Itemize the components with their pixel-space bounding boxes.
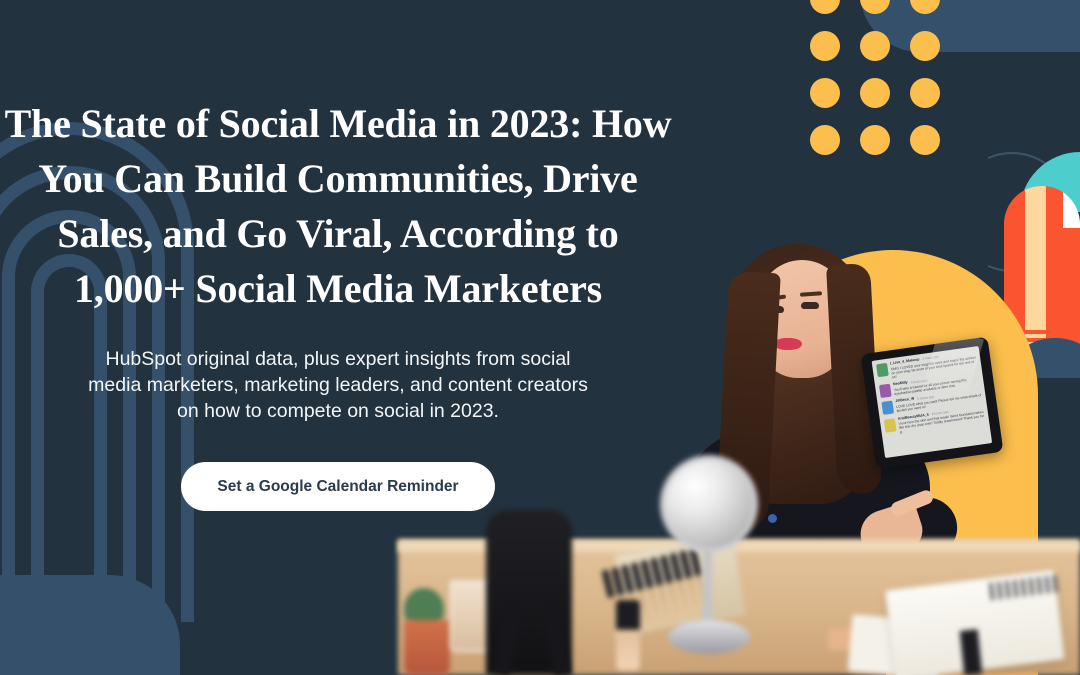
grid-dot	[810, 31, 840, 61]
set-google-calendar-reminder-button[interactable]: Set a Google Calendar Reminder	[181, 462, 494, 511]
grid-dot	[810, 125, 840, 155]
grid-dot	[860, 125, 890, 155]
avatar	[881, 401, 894, 415]
page-title: The State of Social Media in 2023: How Y…	[0, 96, 684, 316]
grid-dot	[860, 78, 890, 108]
grid-dot	[810, 78, 840, 108]
avatar	[884, 418, 897, 432]
avatar	[876, 363, 889, 377]
grid-dot	[910, 125, 940, 155]
grid-dot	[910, 78, 940, 108]
hero-content: The State of Social Media in 2023: How Y…	[0, 96, 684, 511]
foundation-bottle	[616, 600, 640, 670]
avatar	[879, 384, 892, 398]
grid-dot	[860, 0, 890, 14]
grid-dot	[860, 31, 890, 61]
grid-dot	[910, 0, 940, 14]
potted-plant-pot	[404, 620, 450, 675]
bottom-left-slate-panel	[0, 575, 180, 675]
vanity-mirror-base	[668, 620, 750, 654]
vanity-mirror-stem	[703, 548, 712, 630]
hero-subheading: HubSpot original data, plus expert insig…	[78, 346, 598, 424]
grid-dot	[910, 31, 940, 61]
hero-banner: I_Live_4_Makeup 2 hours ago OMG I LOVED …	[0, 0, 1080, 675]
grid-dot	[810, 0, 840, 14]
dot-grid-decoration	[810, 0, 940, 155]
tablet-device: I_Live_4_Makeup 2 hours ago OMG I LOVED …	[861, 337, 1004, 470]
